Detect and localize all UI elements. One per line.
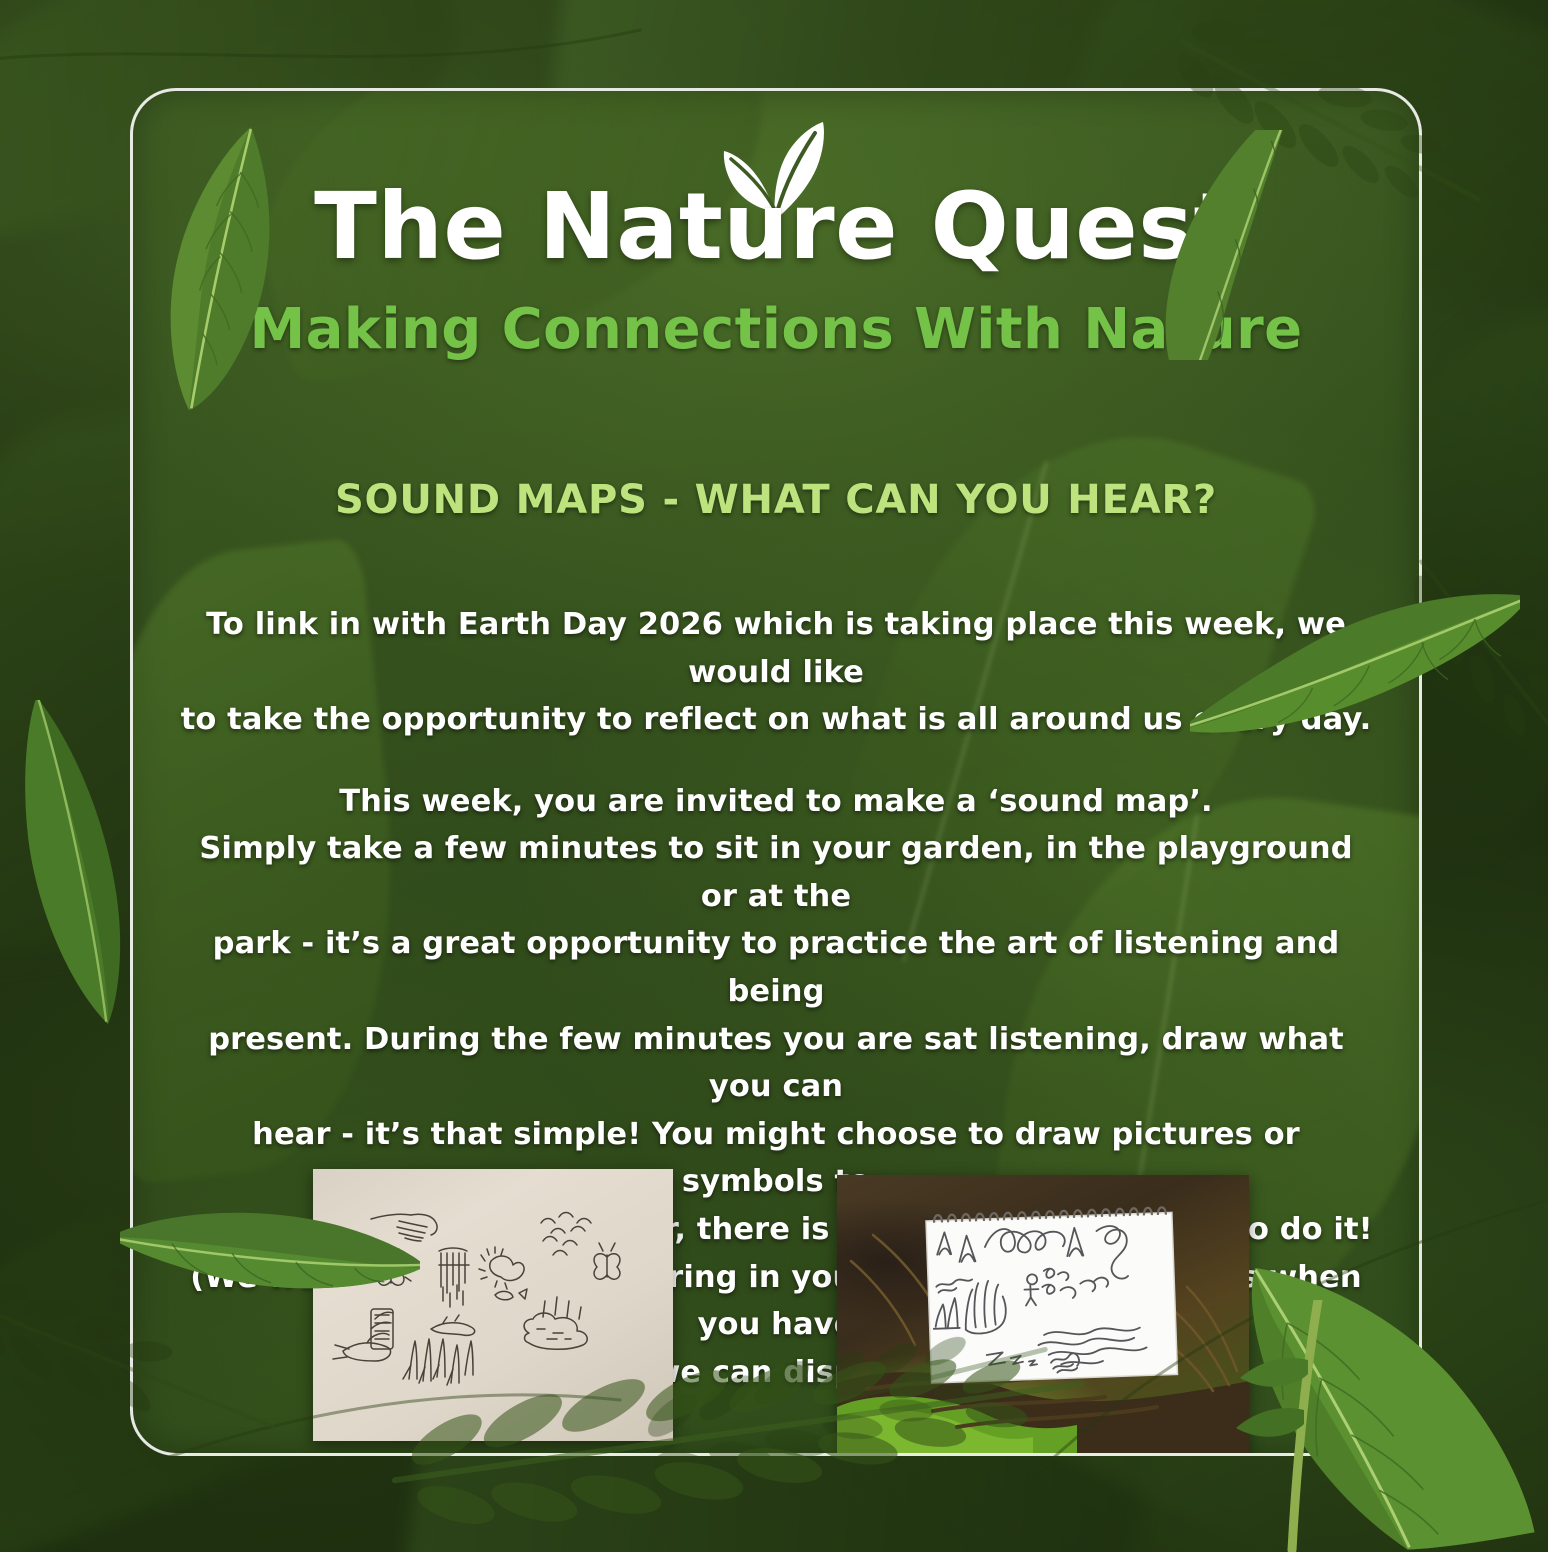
forest-sketchbook-icon	[837, 1175, 1249, 1456]
sound-map-pencil-drawing-photo	[313, 1169, 673, 1441]
body-line: This week, you are invited to make a ‘so…	[177, 778, 1375, 826]
poster-card: The Nature Quest Making Connections With…	[130, 88, 1422, 1456]
body-line: park - it’s a great opportunity to pract…	[177, 920, 1375, 1015]
body-line: present. During the few minutes you are …	[177, 1016, 1375, 1111]
section-heading: SOUND MAPS - WHAT CAN YOU HEAR?	[133, 477, 1419, 523]
sketchbook-in-forest-photo	[837, 1175, 1249, 1456]
body-line: to take the opportunity to reflect on wh…	[177, 696, 1375, 744]
body-line: Simply take a few minutes to sit in your…	[177, 825, 1375, 920]
poster: The Nature Quest Making Connections With…	[0, 0, 1548, 1552]
body-line: To link in with Earth Day 2026 which is …	[177, 601, 1375, 696]
page-title: The Nature Quest	[133, 179, 1419, 275]
sound-map-drawing-icon	[313, 1169, 673, 1441]
photo-row	[133, 1169, 1419, 1456]
page-subtitle: Making Connections With Nature	[133, 299, 1419, 361]
paragraph-spacer	[177, 744, 1375, 778]
